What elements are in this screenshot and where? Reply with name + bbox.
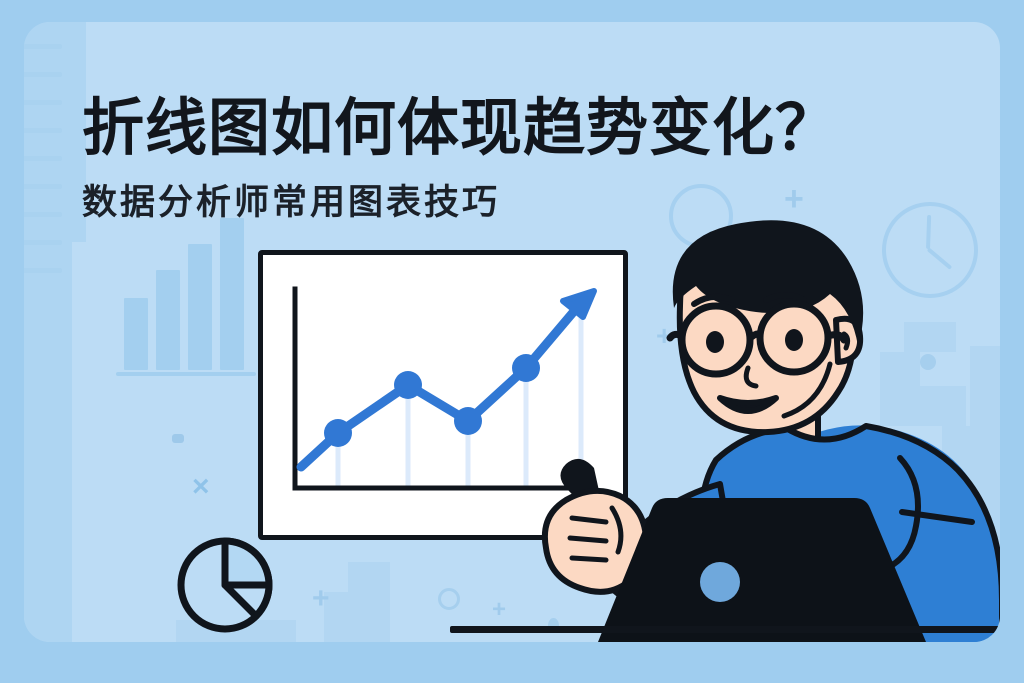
tick-mark xyxy=(24,184,62,189)
laptop-logo-icon xyxy=(700,562,740,602)
laptop xyxy=(544,490,944,642)
pie-chart-icon xyxy=(170,528,280,638)
tick-mark xyxy=(24,240,62,245)
tick-mark xyxy=(24,212,62,217)
staircase-step xyxy=(24,568,72,642)
tick-mark xyxy=(24,100,62,105)
page-title: 折线图如何体现趋势变化？ xyxy=(82,77,838,167)
tick-mark xyxy=(24,72,62,77)
bar-chart-icon-baseline xyxy=(116,372,256,376)
bar-chart-icon-bar xyxy=(156,270,180,370)
staircase-step xyxy=(324,592,390,642)
circle-outline-icon xyxy=(438,588,460,610)
tick-mark xyxy=(24,268,62,273)
page-subtitle: 数据分析师常用图表技巧 xyxy=(82,174,500,225)
x-mark-icon: × xyxy=(192,472,210,502)
bar-chart-icon-bar xyxy=(220,218,244,370)
dot-icon xyxy=(172,434,184,443)
staircase-step xyxy=(348,562,390,596)
tick-mark xyxy=(24,128,62,133)
plus-icon: + xyxy=(312,584,330,614)
poster-panel: + + + + × 折线图如何体现趋势变化？ 数据分析师常用图表技巧 xyxy=(24,22,1000,642)
tick-mark xyxy=(24,156,62,161)
desk-edge xyxy=(450,626,1000,633)
bar-chart-icon-bar xyxy=(188,244,212,370)
tick-mark xyxy=(24,44,62,49)
plus-icon: + xyxy=(784,182,804,216)
poster-canvas: + + + + × 折线图如何体现趋势变化？ 数据分析师常用图表技巧 xyxy=(0,0,1024,683)
bar-chart-icon-bar xyxy=(124,298,148,370)
staircase-step xyxy=(24,424,72,568)
